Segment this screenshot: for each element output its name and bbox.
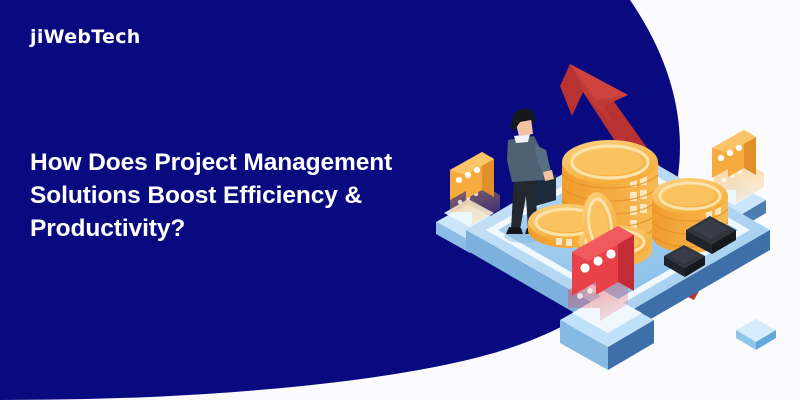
headline-line-2: Solutions Boost Efficiency &	[30, 179, 450, 212]
page-title: How Does Project Management Solutions Bo…	[30, 146, 450, 245]
headline-line-3: Productivity?	[30, 212, 450, 245]
blog-banner: jiWebTech How Does Project Management So…	[0, 0, 800, 400]
floating-blue-tile	[736, 319, 776, 350]
brand-logo[interactable]: jiWebTech	[30, 26, 141, 48]
headline-line-1: How Does Project Management	[30, 146, 450, 179]
